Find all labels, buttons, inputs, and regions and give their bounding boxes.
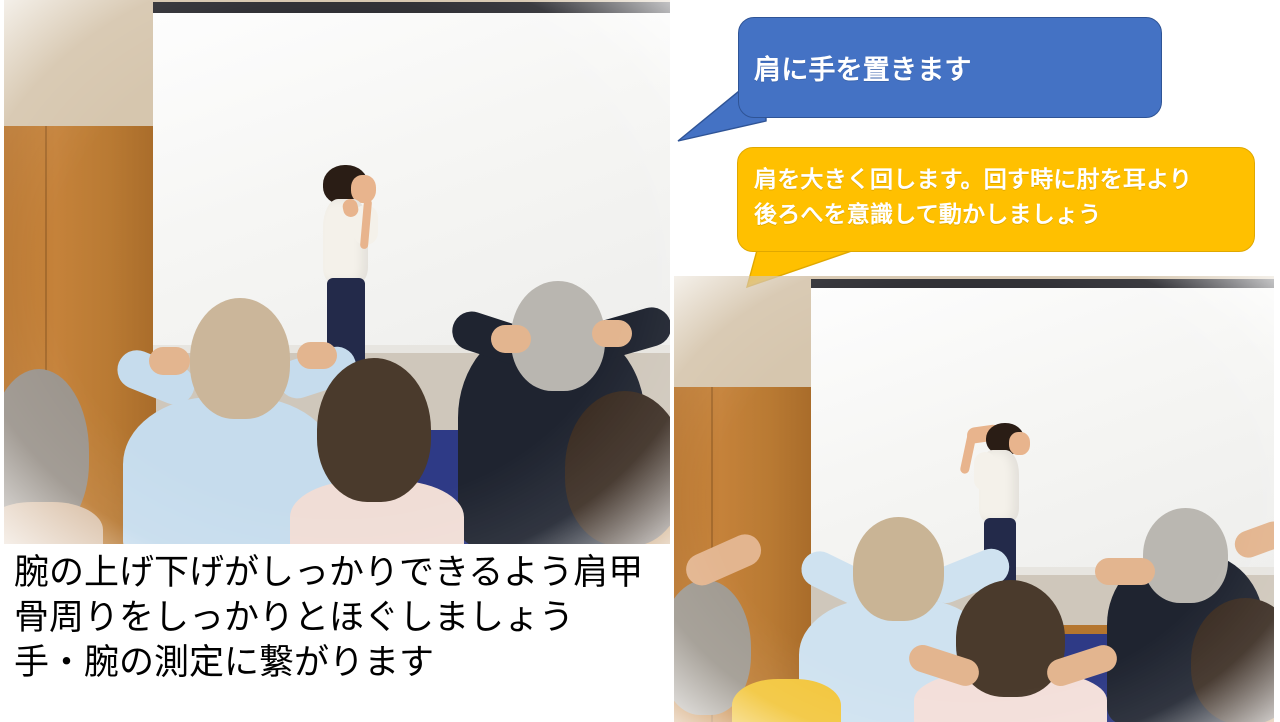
callout-shoulder-rotate[interactable]: 肩を大きく回します。回す時に肘を耳より 後ろへを意識して動かしましょう <box>737 147 1255 252</box>
audience <box>674 276 1274 722</box>
audience-member-head <box>190 298 291 419</box>
audience-member-hand <box>297 342 337 370</box>
classroom-scene-1 <box>4 0 670 544</box>
audience-member-arm <box>1231 518 1274 562</box>
audience-member-head <box>565 391 670 544</box>
callout-text-shoulder-rotate: 肩を大きく回します。回す時に肘を耳より 後ろへを意識して動かしましょう <box>754 162 1247 232</box>
audience-member-hand <box>149 347 189 375</box>
slide-canvas: 肩に手を置きます 肩を大きく回します。回す時に肘を耳より 後ろへを意識して動かし… <box>0 0 1280 720</box>
audience-member-head <box>1143 508 1228 603</box>
classroom-scene-2 <box>674 276 1274 722</box>
audience-member-head <box>853 517 944 621</box>
photo-soft-edge-mask <box>674 276 1274 722</box>
callout-shoulder-hands[interactable]: 肩に手を置きます <box>738 17 1162 118</box>
photo-arms-raised <box>674 276 1274 722</box>
caption-text: 腕の上げ下げがしっかりできるよう肩甲 骨周りをしっかりとほぐしましょう 手・腕の… <box>14 550 664 685</box>
audience-member-body <box>732 679 841 722</box>
audience-member-head <box>317 358 431 502</box>
audience-member-body <box>4 502 103 544</box>
audience <box>4 0 670 544</box>
audience-member-hand <box>592 320 632 348</box>
photo-hands-on-shoulders <box>4 0 670 544</box>
callout-text-shoulder-hands: 肩に手を置きます <box>754 53 1152 87</box>
audience-member-hand <box>491 325 531 353</box>
audience-member-arm <box>1095 558 1155 585</box>
audience-member-arm <box>681 529 766 590</box>
photo-soft-edge-mask <box>4 0 670 544</box>
